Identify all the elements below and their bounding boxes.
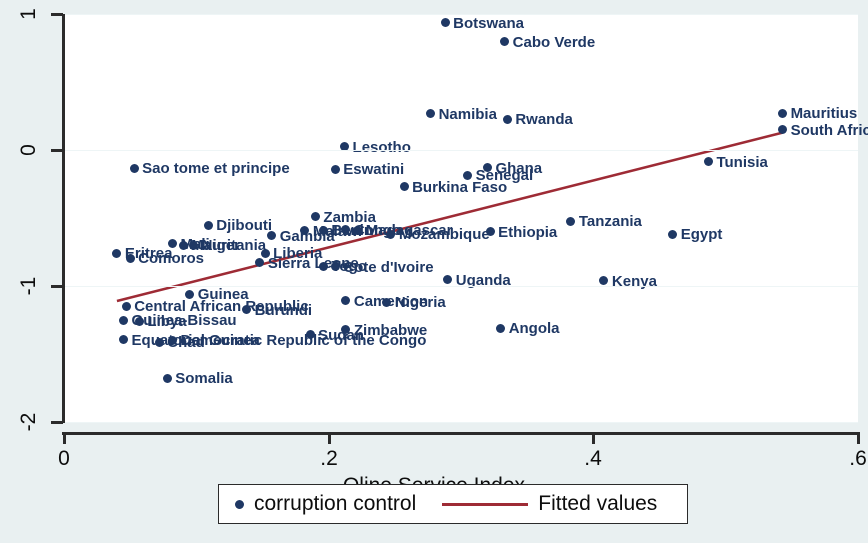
data-point-marker[interactable] — [311, 212, 320, 221]
data-point-label: Somalia — [175, 371, 233, 386]
data-point-label: Angola — [509, 321, 560, 336]
data-point-label: Namibia — [439, 107, 497, 122]
x-tick-0 — [63, 432, 66, 444]
data-point-label: Democratic Republic of the Congo — [181, 333, 427, 348]
data-point-label: Comoros — [138, 251, 204, 266]
data-point-label: Gambia — [280, 229, 335, 244]
data-point-marker[interactable] — [122, 302, 131, 311]
data-point-label: Egypt — [681, 227, 723, 242]
data-point-label: Libya — [147, 314, 186, 329]
data-point-label: Nigeria — [395, 295, 446, 310]
x-tick-label-2: .4 — [563, 447, 623, 471]
data-point-marker[interactable] — [704, 157, 713, 166]
gridline-y-1 — [64, 150, 858, 151]
data-point-label: South Africa — [791, 123, 868, 138]
y-tick-label-1: 0 — [16, 130, 42, 170]
data-point-label: Burundi — [255, 303, 313, 318]
data-point-label: Sao tome et principe — [142, 161, 290, 176]
data-point-marker[interactable] — [441, 18, 450, 27]
data-point-marker[interactable] — [319, 262, 328, 271]
gridline-y-0 — [64, 14, 858, 15]
x-tick-2 — [592, 432, 595, 444]
legend-label-fitted-values: Fitted values — [538, 492, 657, 516]
chart-legend: corruption control Fitted values — [218, 484, 688, 524]
data-point-label: Burkina Faso — [412, 180, 507, 195]
gridline-y-3 — [64, 422, 858, 423]
y-tick-0 — [51, 13, 63, 16]
legend-entry-corruption-control: corruption control — [235, 492, 416, 516]
y-tick-label-3: -2 — [16, 402, 42, 442]
legend-line-icon — [442, 503, 528, 506]
data-point-label: Niger — [202, 238, 240, 253]
data-point-label: Ethiopia — [498, 225, 557, 240]
data-point-label: Eswatini — [343, 162, 404, 177]
data-point-label: Tunisia — [716, 155, 767, 170]
y-tick-label-2: -1 — [16, 266, 42, 306]
data-point-marker[interactable] — [486, 227, 495, 236]
data-point-marker[interactable] — [668, 230, 677, 239]
data-point-label: Cote d'Ivoire — [343, 260, 433, 275]
data-point-marker[interactable] — [179, 241, 188, 250]
data-point-marker[interactable] — [400, 182, 409, 191]
data-point-marker[interactable] — [185, 290, 194, 299]
data-point-label: Lesotho — [353, 140, 411, 155]
data-point-marker[interactable] — [135, 317, 144, 326]
data-point-marker[interactable] — [155, 338, 164, 347]
x-tick-label-3: .6 — [828, 447, 868, 471]
data-point-marker[interactable] — [168, 336, 177, 345]
data-point-marker[interactable] — [331, 165, 340, 174]
x-axis-line — [62, 432, 860, 435]
data-point-marker[interactable] — [503, 115, 512, 124]
y-axis-line — [62, 14, 65, 423]
x-tick-label-0: 0 — [34, 447, 94, 471]
legend-entry-fitted-values: Fitted values — [442, 492, 657, 516]
data-point-marker[interactable] — [163, 374, 172, 383]
data-point-marker[interactable] — [204, 221, 213, 230]
x-tick-label-1: .2 — [299, 447, 359, 471]
data-point-marker[interactable] — [130, 164, 139, 173]
y-tick-3 — [51, 421, 63, 424]
data-point-label: Botswana — [453, 16, 524, 31]
legend-label-corruption-control: corruption control — [254, 492, 416, 516]
x-tick-3 — [857, 432, 860, 444]
x-tick-1 — [328, 432, 331, 444]
data-point-marker[interactable] — [496, 324, 505, 333]
data-point-label: Cabo Verde — [513, 35, 596, 50]
data-point-marker[interactable] — [126, 254, 135, 263]
y-tick-label-0: 1 — [16, 0, 42, 34]
data-point-marker[interactable] — [119, 316, 128, 325]
data-point-marker[interactable] — [778, 109, 787, 118]
data-point-label: Rwanda — [515, 112, 573, 127]
data-point-label: Tanzania — [579, 214, 642, 229]
legend-dot-icon — [235, 500, 244, 509]
data-point-label: Mozambique — [399, 227, 490, 242]
fitted-values-line — [0, 0, 868, 543]
y-tick-1 — [51, 149, 63, 152]
data-point-label: Mauritius — [791, 106, 858, 121]
gridline-y-2 — [64, 286, 858, 287]
data-point-marker[interactable] — [353, 226, 362, 235]
y-tick-2 — [51, 285, 63, 288]
data-point-label: Djibouti — [216, 218, 272, 233]
data-point-marker[interactable] — [189, 241, 198, 250]
scatter-plot-figure: BotswanaCabo VerdeNamibiaRwandaMauritius… — [0, 0, 868, 543]
